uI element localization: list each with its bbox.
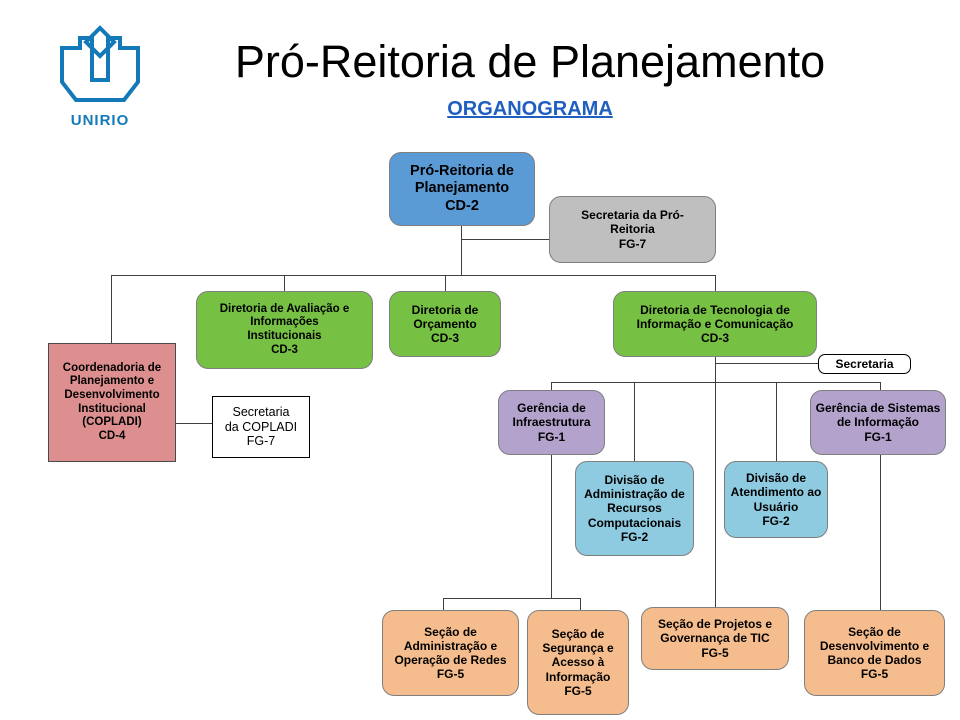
page-subtitle: ORGANOGRAMA	[180, 98, 880, 121]
connector-root-to-secretaria	[461, 239, 549, 240]
node-secretaria-tic[interactable]: Secretaria	[818, 354, 911, 374]
node-secao-seguranca-acesso-informacao[interactable]: Seção de Segurança e Acesso à Informação…	[527, 610, 629, 715]
logo-wordmark: UNIRIO	[44, 112, 156, 129]
node-secao-projetos-governanca-tic[interactable]: Seção de Projetos e Governança de TIC FG…	[641, 607, 789, 670]
node-coordenadoria-copladi[interactable]: Coordenadoria de Planejamento e Desenvol…	[48, 343, 176, 462]
node-gerencia-sistemas-informacao[interactable]: Gerência de Sistemas de Informação FG-1	[810, 390, 946, 455]
connector-drop-avaliacao	[284, 275, 285, 291]
node-diretoria-avaliacao[interactable]: Diretoria de Avaliação e Informações Ins…	[196, 291, 373, 369]
node-divisao-administracao-recursos[interactable]: Divisão de Administração de Recursos Com…	[575, 461, 694, 556]
connector-drop-divisao-atendimento	[776, 382, 777, 461]
connector-tic-to-secretaria	[715, 363, 818, 364]
connector-drop-copladi	[111, 275, 112, 343]
node-divisao-atendimento-usuario[interactable]: Divisão de Atendimento ao Usuário FG-2	[724, 461, 828, 538]
node-diretoria-orcamento[interactable]: Diretoria de Orçamento CD-3	[389, 291, 501, 357]
node-diretoria-tecnologia-informacao[interactable]: Diretoria de Tecnologia de Informação e …	[613, 291, 817, 357]
node-secao-desenvolvimento-banco-dados[interactable]: Seção de Desenvolvimento e Banco de Dado…	[804, 610, 945, 696]
connector-drop-tic	[715, 275, 716, 291]
connector-copladi-to-secretaria	[176, 423, 212, 424]
connector-level2-bar	[111, 275, 716, 276]
connector-drop-gerencia-infra	[551, 382, 552, 390]
node-pro-reitoria-planejamento[interactable]: Pró-Reitoria de Planejamento CD-2	[389, 152, 535, 226]
connector-drop-secao-seguranca	[580, 598, 581, 610]
node-secao-administracao-operacao-redes[interactable]: Seção de Administração e Operação de Red…	[382, 610, 519, 696]
connector-gerencia-sistemas-trunk	[880, 455, 881, 610]
unirio-logo: UNIRIO	[44, 24, 156, 138]
node-secretaria-pro-reitoria[interactable]: Secretaria da Pró- Reitoria FG-7	[549, 196, 716, 263]
connector-tic-trunk	[715, 356, 716, 382]
connector-drop-divisao-recursos	[634, 382, 635, 461]
page-title: Pró-Reitoria de Planejamento	[180, 36, 880, 88]
connector-drop-secao-projetos	[715, 382, 716, 607]
connector-gerencia-infra-trunk	[551, 455, 552, 598]
connector-drop-orcamento	[445, 275, 446, 291]
node-secretaria-copladi[interactable]: Secretaria da COPLADI FG-7	[212, 396, 310, 458]
organogram-canvas: UNIRIO Pró-Reitoria de Planejamento ORGA…	[0, 0, 960, 720]
connector-root-trunk	[461, 225, 462, 275]
unirio-university-logo-icon	[58, 24, 142, 112]
connector-secao-bar-infra	[443, 598, 580, 599]
connector-drop-gerencia-sistemas	[880, 382, 881, 390]
node-gerencia-infraestrutura[interactable]: Gerência de Infraestrutura FG-1	[498, 390, 605, 455]
connector-drop-secao-redes	[443, 598, 444, 610]
